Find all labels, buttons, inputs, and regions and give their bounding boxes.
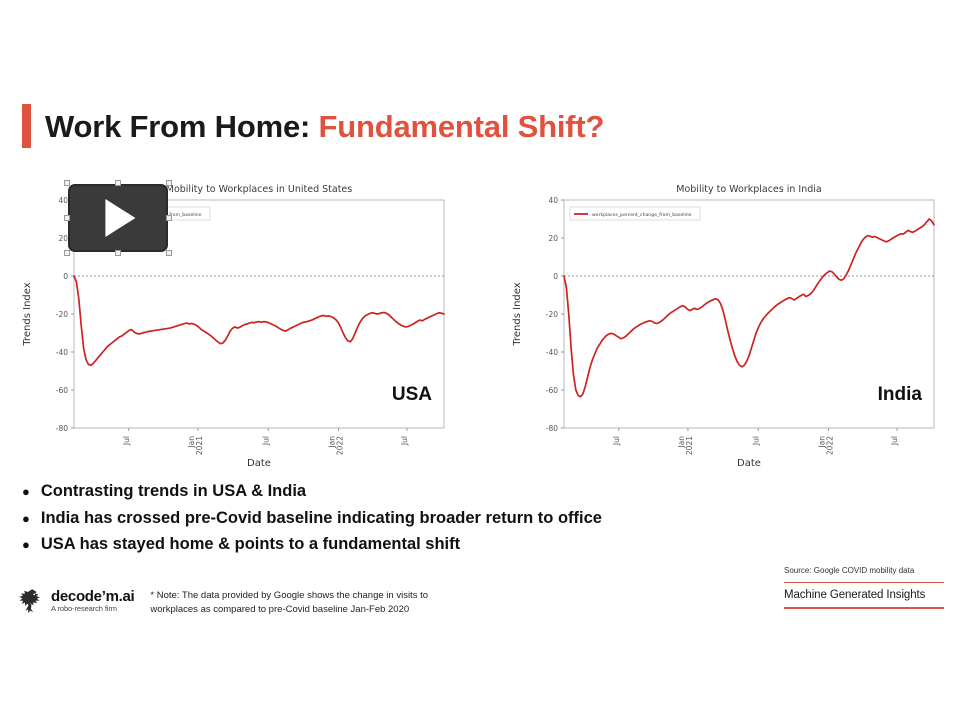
title-primary: Work From Home: xyxy=(45,109,310,144)
svg-text:2022: 2022 xyxy=(336,436,345,455)
bullet-text: India has crossed pre-Covid baseline ind… xyxy=(41,505,602,532)
resize-handle-middle-left[interactable] xyxy=(64,215,70,221)
brand-logo: decode’m.ai A robo-research firm xyxy=(18,586,134,616)
svg-text:2021: 2021 xyxy=(195,436,204,455)
list-item: ● India has crossed pre-Covid baseline i… xyxy=(22,505,842,532)
svg-text:Jul: Jul xyxy=(890,436,899,446)
svg-text:Jul: Jul xyxy=(751,436,760,446)
svg-text:India: India xyxy=(878,384,923,405)
footer-left: decode’m.ai A robo-research firm * Note:… xyxy=(18,586,450,617)
svg-text:-60: -60 xyxy=(546,386,558,395)
svg-text:20: 20 xyxy=(548,234,558,243)
svg-text:Trends Index: Trends Index xyxy=(22,282,33,346)
svg-text:Jul: Jul xyxy=(612,436,621,446)
svg-text:-80: -80 xyxy=(546,424,558,433)
title-highlight: Fundamental Shift? xyxy=(319,109,605,144)
svg-text:40: 40 xyxy=(58,196,68,205)
svg-text:Mobility to Workplaces in Unit: Mobility to Workplaces in United States xyxy=(166,184,353,195)
svg-text:2021: 2021 xyxy=(685,436,694,455)
brand-name: decode’m.ai xyxy=(51,589,134,605)
title-text: Work From Home: Fundamental Shift? xyxy=(45,111,604,142)
bullet-dot: ● xyxy=(22,512,30,525)
svg-text:Jul: Jul xyxy=(400,436,409,446)
page-title: Work From Home: Fundamental Shift? xyxy=(22,104,604,148)
svg-text:USA: USA xyxy=(392,384,432,405)
resize-handle-top-left[interactable] xyxy=(64,180,70,186)
bullet-dot: ● xyxy=(22,485,30,498)
svg-text:-80: -80 xyxy=(56,424,68,433)
footnote-text: * Note: The data provided by Google show… xyxy=(150,586,450,617)
svg-text:Jul: Jul xyxy=(122,436,131,446)
resize-handle-middle-right[interactable] xyxy=(166,215,172,221)
svg-text:-40: -40 xyxy=(56,348,68,357)
resize-handle-bottom-right[interactable] xyxy=(166,250,172,256)
svg-text:-20: -20 xyxy=(546,310,558,319)
svg-text:-40: -40 xyxy=(546,348,558,357)
video-frame[interactable] xyxy=(68,184,168,252)
svg-text:20: 20 xyxy=(58,234,68,243)
bullet-list: ● Contrasting trends in USA & India ● In… xyxy=(22,478,842,558)
slide-root: Work From Home: Fundamental Shift? Mobil… xyxy=(0,0,960,720)
svg-text:-60: -60 xyxy=(56,386,68,395)
svg-text:Trends Index: Trends Index xyxy=(512,282,523,346)
play-icon[interactable] xyxy=(105,199,135,237)
list-item: ● Contrasting trends in USA & India xyxy=(22,478,842,505)
svg-text:Date: Date xyxy=(247,458,271,468)
list-item: ● USA has stayed home & points to a fund… xyxy=(22,531,842,558)
svg-text:Mobility to Workplaces in Indi: Mobility to Workplaces in India xyxy=(676,184,821,195)
divider-bottom xyxy=(784,607,944,609)
video-placeholder[interactable] xyxy=(68,184,168,252)
svg-text:2022: 2022 xyxy=(826,436,835,455)
svg-text:0: 0 xyxy=(553,272,558,281)
resize-handle-top-right[interactable] xyxy=(166,180,172,186)
footer-right: Source: Google COVID mobility data Machi… xyxy=(784,566,944,614)
svg-text:workplaces_percent_change_from: workplaces_percent_change_from_baseline xyxy=(592,212,692,218)
bullet-dot: ● xyxy=(22,538,30,551)
brand-tagline: A robo-research firm xyxy=(51,604,134,613)
svg-text:Jul: Jul xyxy=(261,436,270,446)
svg-text:-20: -20 xyxy=(56,310,68,319)
brand-text: decode’m.ai A robo-research firm xyxy=(51,589,134,614)
eagle-logo-icon xyxy=(18,586,46,616)
chart-india: Mobility to Workplaces in India40200-20-… xyxy=(506,178,946,468)
divider-top xyxy=(784,582,944,584)
resize-handle-bottom-center[interactable] xyxy=(115,250,121,256)
title-accent-bar xyxy=(22,104,31,148)
bullet-text: Contrasting trends in USA & India xyxy=(41,478,306,505)
source-text: Source: Google COVID mobility data xyxy=(784,566,944,577)
resize-handle-bottom-left[interactable] xyxy=(64,250,70,256)
bullet-text: USA has stayed home & points to a fundam… xyxy=(41,531,460,558)
svg-text:Date: Date xyxy=(737,458,761,468)
svg-text:40: 40 xyxy=(548,196,558,205)
chart-india-svg: Mobility to Workplaces in India40200-20-… xyxy=(506,178,946,468)
resize-handle-top-center[interactable] xyxy=(115,180,121,186)
svg-text:0: 0 xyxy=(63,272,68,281)
machine-generated-label: Machine Generated Insights xyxy=(784,588,944,602)
